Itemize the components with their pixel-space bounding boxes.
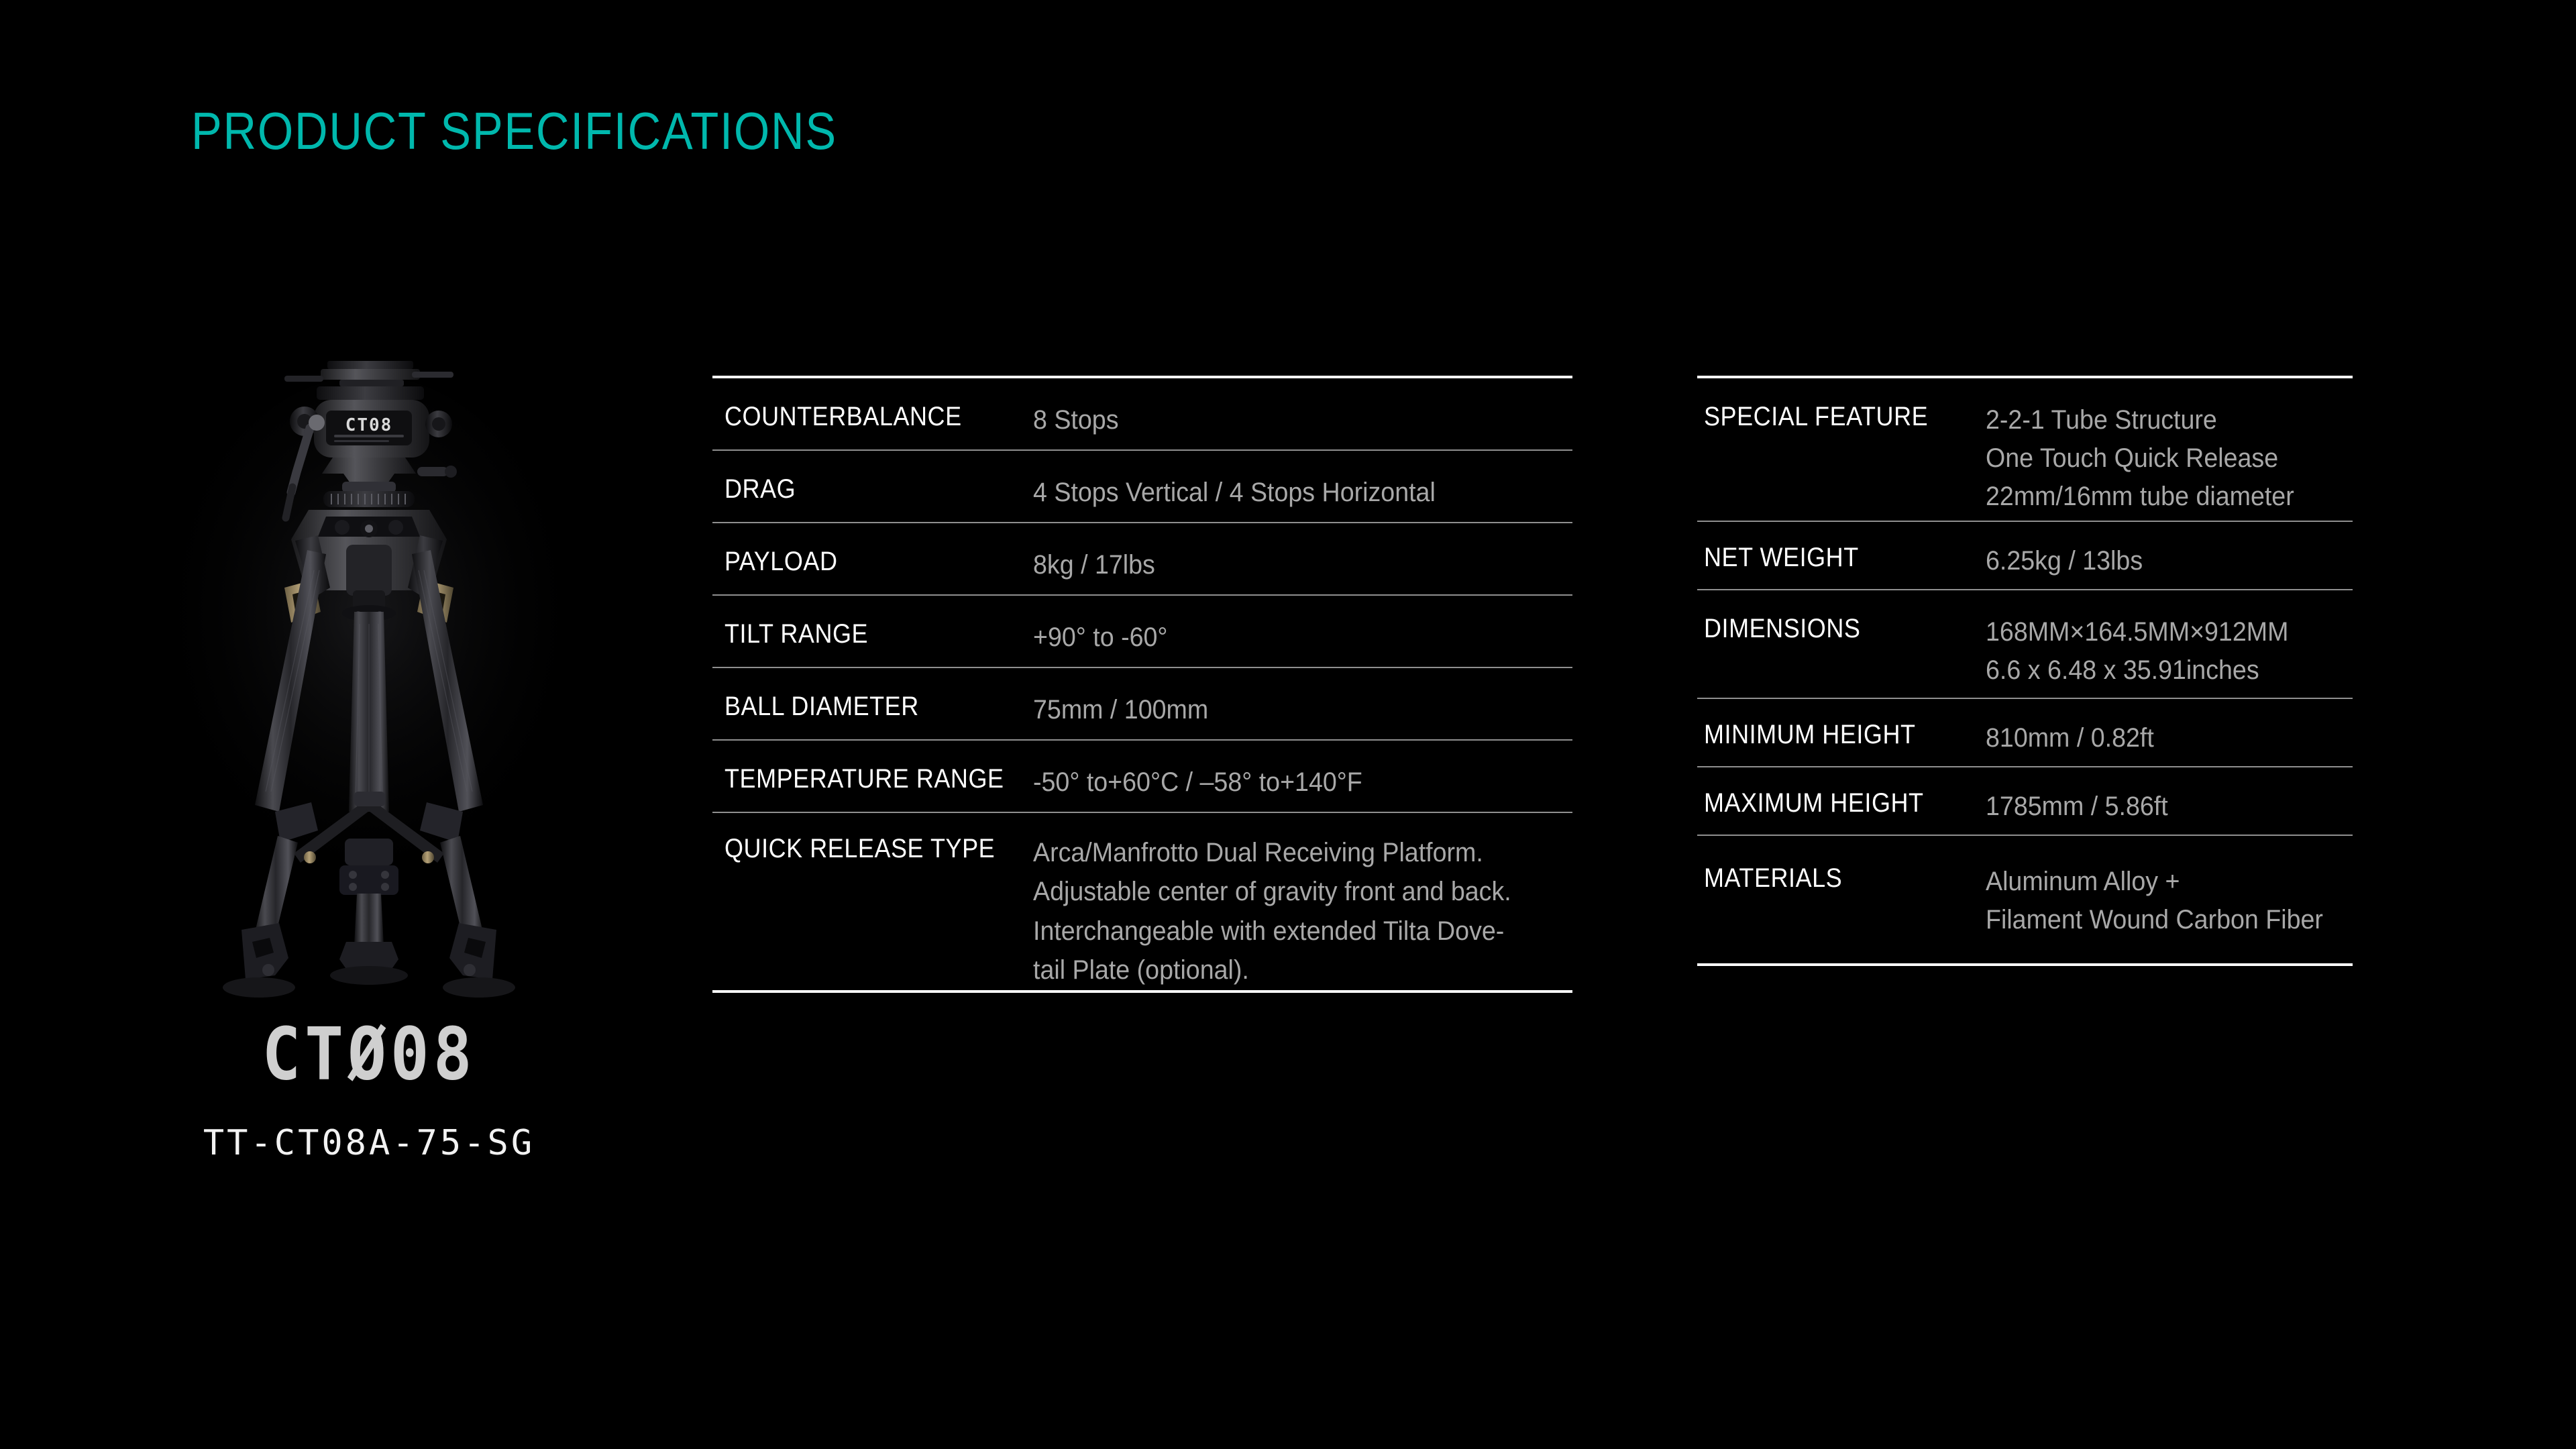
spec-label-materials: MATERIALS [1704,863,1957,894]
spec-value-line: Arca/Manfrotto Dual Receiving Platform. [1033,833,1540,872]
spec-value-line: Interchangeable with extended Tilta Dove… [1033,912,1540,951]
spec-value-line: 2-2-1 Tube Structure [1986,401,2330,439]
page-title: PRODUCT SPECIFICATIONS [191,101,837,162]
spec-value-line: 6.25kg / 13lbs [1986,542,2330,580]
spec-label-net-weight: NET WEIGHT [1704,542,1957,573]
spec-row-special-feature: SPECIAL FEATURE2-2-1 Tube StructureOne T… [1697,378,2353,521]
spec-value-line: 8kg / 17lbs [1033,546,1540,584]
spec-value-special-feature: 2-2-1 Tube StructureOne Touch Quick Rele… [1986,401,2330,515]
spec-row-net-weight: NET WEIGHT6.25kg / 13lbs [1697,522,2353,589]
table-rule-bottom [1697,963,2353,966]
product-name: CTØ08 [141,1018,597,1091]
spec-label-counterbalance: COUNTERBALANCE [724,401,1002,432]
spec-value-line: Aluminum Alloy + [1986,863,2330,901]
spec-value-line: -50° to+60°C / –58° to+140°F [1033,763,1540,802]
spec-value-line: Filament Wound Carbon Fiber [1986,901,2330,939]
product-image-ct08-tripod: CT08 [141,349,597,1013]
product-panel: CT08 [141,349,597,1163]
spec-row-tilt-range: TILT RANGE+90° to -60° [712,596,1572,667]
spec-label-maximum-height: MAXIMUM HEIGHT [1704,788,1957,818]
spec-row-counterbalance: COUNTERBALANCE8 Stops [712,378,1572,449]
spec-row-temperature-range: TEMPERATURE RANGE-50° to+60°C / –58° to+… [712,741,1572,812]
spec-label-special-feature: SPECIAL FEATURE [1704,401,1957,432]
spec-value-temperature-range: -50° to+60°C / –58° to+140°F [1033,763,1540,802]
spec-table-left: COUNTERBALANCE8 StopsDRAG4 Stops Vertica… [712,376,1572,993]
spec-row-materials: MATERIALSAluminum Alloy +Filament Wound … [1697,836,2353,963]
spec-row-payload: PAYLOAD8kg / 17lbs [712,523,1572,594]
spec-value-tilt-range: +90° to -60° [1033,619,1540,657]
product-model-number: TT-CT08A-75-SG [141,1123,597,1163]
spec-value-line: 168MM×164.5MM×912MM [1986,613,2330,651]
spec-row-maximum-height: MAXIMUM HEIGHT1785mm / 5.86ft [1697,767,2353,835]
spec-row-quick-release-type: QUICK RELEASE TYPEArca/Manfrotto Dual Re… [712,813,1572,990]
spec-value-line: 75mm / 100mm [1033,691,1540,729]
spec-value-dimensions: 168MM×164.5MM×912MM6.6 x 6.48 x 35.91inc… [1986,613,2330,690]
spec-value-line: 8 Stops [1033,401,1540,439]
spec-value-line: tail Plate (optional). [1033,951,1540,989]
spec-value-counterbalance: 8 Stops [1033,401,1540,439]
spec-value-net-weight: 6.25kg / 13lbs [1986,542,2330,580]
spec-value-line: 22mm/16mm tube diameter [1986,478,2330,516]
spec-value-line: One Touch Quick Release [1986,439,2330,478]
spec-label-payload: PAYLOAD [724,546,1002,577]
spec-value-line: 4 Stops Vertical / 4 Stops Horizontal [1033,474,1540,512]
spec-value-minimum-height: 810mm / 0.82ft [1986,719,2330,757]
spec-row-drag: DRAG4 Stops Vertical / 4 Stops Horizonta… [712,451,1572,522]
spec-label-quick-release-type: QUICK RELEASE TYPE [724,833,1002,864]
spec-row-ball-diameter: BALL DIAMETER75mm / 100mm [712,668,1572,739]
spec-label-ball-diameter: BALL DIAMETER [724,691,1002,722]
spec-label-drag: DRAG [724,474,1002,504]
spec-value-drag: 4 Stops Vertical / 4 Stops Horizontal [1033,474,1540,512]
spec-value-line: 6.6 x 6.48 x 35.91inches [1986,651,2330,690]
spec-value-ball-diameter: 75mm / 100mm [1033,691,1540,729]
spec-value-line: +90° to -60° [1033,619,1540,657]
spec-label-dimensions: DIMENSIONS [1704,613,1957,644]
spec-row-minimum-height: MINIMUM HEIGHT810mm / 0.82ft [1697,699,2353,766]
spec-row-dimensions: DIMENSIONS168MM×164.5MM×912MM6.6 x 6.48 … [1697,590,2353,698]
svg-text:CT08: CT08 [345,415,393,435]
spec-value-line: 810mm / 0.82ft [1986,719,2330,757]
spec-label-tilt-range: TILT RANGE [724,619,1002,649]
spec-value-line: Adjustable center of gravity front and b… [1033,872,1540,911]
spec-value-quick-release-type: Arca/Manfrotto Dual Receiving Platform.A… [1033,833,1540,990]
spec-value-line: 1785mm / 5.86ft [1986,788,2330,826]
table-rule-bottom [712,990,1572,993]
spec-value-payload: 8kg / 17lbs [1033,546,1540,584]
spec-label-temperature-range: TEMPERATURE RANGE [724,763,1002,794]
spec-value-materials: Aluminum Alloy +Filament Wound Carbon Fi… [1986,863,2330,939]
spec-table-right: SPECIAL FEATURE2-2-1 Tube StructureOne T… [1697,376,2353,966]
spec-label-minimum-height: MINIMUM HEIGHT [1704,719,1957,750]
spec-value-maximum-height: 1785mm / 5.86ft [1986,788,2330,826]
